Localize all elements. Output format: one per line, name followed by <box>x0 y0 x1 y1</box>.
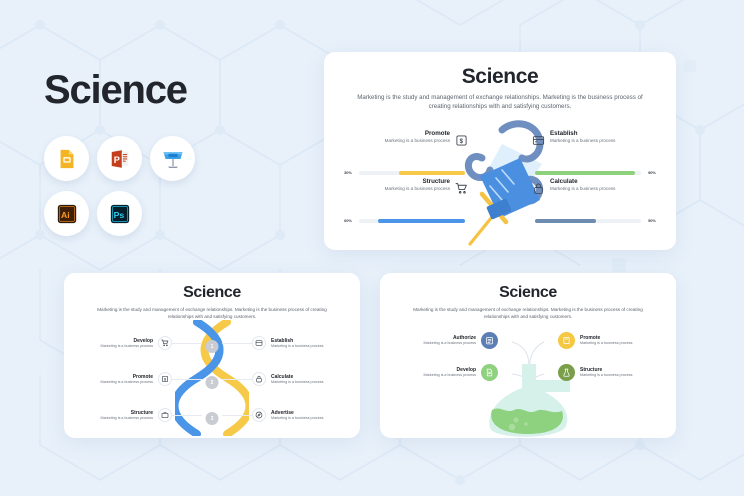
main-item-promote-track[interactable] <box>359 171 465 175</box>
dna-item-advertise[interactable]: Advertise Marketing is a business proces… <box>252 408 348 422</box>
photoshop-icon: Ps <box>109 203 131 225</box>
main-item-promote-head: Promote Marketing is a business process … <box>340 130 468 147</box>
google-slides-icon <box>56 148 78 170</box>
flask-icon <box>558 364 575 381</box>
dna-item-promote-desc: Marketing is a business process <box>101 380 153 386</box>
briefcase-icon <box>158 408 172 422</box>
main-item-promote-name: Promote <box>385 130 450 137</box>
flask-card-body: Authorize Marketing is a business proces… <box>380 320 676 438</box>
main-item-structure-progress[interactable]: 60% <box>340 212 468 230</box>
main-item-establish-text: Establish Marketing is a business proces… <box>550 130 615 145</box>
main-item-promote[interactable]: Promote Marketing is a business process … <box>340 130 468 147</box>
app-icon-google-slides[interactable] <box>44 136 89 181</box>
connector-line <box>222 343 252 344</box>
lock-icon <box>532 182 545 195</box>
compass-icon <box>252 408 266 422</box>
main-item-structure-head: Structure Marketing is a business proces… <box>340 178 468 195</box>
connector-line <box>172 415 202 416</box>
connector-line <box>172 343 202 344</box>
document-icon <box>481 364 498 381</box>
dna-item-structure-text: Structure Marketing is a business proces… <box>101 410 153 422</box>
flask-item-develop-desc: Marketing is a business process <box>424 373 476 379</box>
main-item-structure-desc: Marketing is a business process <box>385 186 450 193</box>
app-icon-illustrator[interactable]: Ai <box>44 191 89 236</box>
main-item-promote-desc: Marketing is a business process <box>385 138 450 145</box>
dna-item-develop-desc: Marketing is a business process <box>101 344 153 350</box>
dollar-icon: $ <box>455 134 468 147</box>
main-card-subtitle: Marketing is the study and management of… <box>350 94 650 112</box>
svg-text:$: $ <box>164 378 166 382</box>
illustrator-icon: Ai <box>56 203 78 225</box>
dna-item-develop[interactable]: Develop Marketing is a business process <box>76 336 172 350</box>
dna-item-establish-desc: Marketing is a business process <box>271 344 323 350</box>
dna-item-calculate-desc: Marketing is a business process <box>271 380 323 386</box>
main-item-calculate[interactable]: Calculate Marketing is a business proces… <box>532 178 660 195</box>
hero-block: Science P <box>44 70 294 236</box>
app-icon-keynote[interactable] <box>150 136 195 181</box>
flask-item-develop[interactable]: Develop Marketing is a business process <box>394 364 498 381</box>
flask-item-promote-text: Promote Marketing is a business process <box>580 335 632 347</box>
cart-icon <box>158 336 172 350</box>
powerpoint-icon: P <box>109 148 131 170</box>
wallet-icon <box>532 134 545 147</box>
dna-item-structure[interactable]: Structure Marketing is a business proces… <box>76 408 172 422</box>
wallet-icon <box>252 336 266 350</box>
flask-item-structure-text: Structure Marketing is a business proces… <box>580 367 632 379</box>
dna-item-develop-text: Develop Marketing is a business process <box>101 338 153 350</box>
app-icon-powerpoint[interactable]: P <box>97 136 142 181</box>
main-item-calculate-name: Calculate <box>550 178 615 185</box>
dna-infographic-card: Science Marketing is the study and manag… <box>64 273 360 438</box>
main-item-calculate-progress[interactable]: 50% <box>532 212 660 230</box>
svg-text:Ai: Ai <box>60 209 69 219</box>
main-item-calculate-desc: Marketing is a business process <box>550 186 615 193</box>
flask-item-authorize[interactable]: Authorize Marketing is a business proces… <box>394 332 498 349</box>
flask-item-promote[interactable]: Promote Marketing is a business process <box>558 332 662 349</box>
dna-item-advertise-text: Advertise Marketing is a business proces… <box>271 410 323 422</box>
flask-item-promote-desc: Marketing is a business process <box>580 341 632 347</box>
dna-item-calculate-text: Calculate Marketing is a business proces… <box>271 374 323 386</box>
dna-item-promote[interactable]: Promote Marketing is a business process … <box>76 372 172 386</box>
main-infographic-card: Science Marketing is the study and manag… <box>324 52 676 250</box>
app-icon-photoshop[interactable]: Ps <box>97 191 142 236</box>
flask-infographic-card: Science Marketing is the study and manag… <box>380 273 676 438</box>
dna-item-establish-text: Establish Marketing is a business proces… <box>271 338 323 350</box>
dna-card-title: Science <box>64 284 360 302</box>
cart-icon <box>455 182 468 195</box>
main-item-structure-name: Structure <box>385 178 450 185</box>
dna-item-promote-text: Promote Marketing is a business process <box>101 374 153 386</box>
flask-card-subtitle: Marketing is the study and management of… <box>400 307 656 320</box>
main-item-structure-track[interactable] <box>359 219 465 223</box>
flask-item-structure-desc: Marketing is a business process <box>580 373 632 379</box>
progress-fill <box>535 219 596 223</box>
main-card-title: Science <box>324 65 676 89</box>
dna-card-subtitle: Marketing is the study and management of… <box>84 307 340 320</box>
main-item-calculate-percent: 50% <box>644 212 660 230</box>
connector-line <box>172 379 202 380</box>
keynote-icon <box>161 147 185 171</box>
app-icon-list: P Ai Ps <box>44 136 206 236</box>
main-item-establish-desc: Marketing is a business process <box>550 138 615 145</box>
dollar-icon: $ <box>158 372 172 386</box>
svg-text:Ps: Ps <box>113 209 124 219</box>
main-item-structure[interactable]: Structure Marketing is a business proces… <box>340 178 468 195</box>
progress-fill <box>535 171 635 175</box>
page-title: Science <box>44 70 294 110</box>
flask-card-title: Science <box>380 284 676 302</box>
flask-item-develop-text: Develop Marketing is a business process <box>424 367 476 379</box>
main-item-calculate-text: Calculate Marketing is a business proces… <box>550 178 615 193</box>
main-item-establish-head: Establish Marketing is a business proces… <box>532 130 660 147</box>
svg-text:$: $ <box>460 139 464 145</box>
main-item-establish[interactable]: Establish Marketing is a business proces… <box>532 130 660 147</box>
flask-item-authorize-desc: Marketing is a business process <box>424 341 476 347</box>
dna-card-body: 1 2 3 Develop Marketing is a business pr… <box>64 320 360 438</box>
main-card-body: Promote Marketing is a business process … <box>324 112 676 250</box>
main-item-structure-percent: 60% <box>340 212 356 230</box>
dna-node-2: 2 <box>206 376 219 389</box>
main-item-establish-name: Establish <box>550 130 615 137</box>
flask-item-structure[interactable]: Structure Marketing is a business proces… <box>558 364 662 381</box>
main-item-promote-text: Promote Marketing is a business process <box>385 130 450 145</box>
svg-text:P: P <box>113 155 119 165</box>
dna-item-establish[interactable]: Establish Marketing is a business proces… <box>252 336 348 350</box>
connector-line <box>222 415 252 416</box>
clipboard-icon <box>481 332 498 349</box>
main-item-establish-track[interactable] <box>535 171 641 175</box>
dna-item-advertise-desc: Marketing is a business process <box>271 416 323 422</box>
progress-fill <box>399 171 465 175</box>
dna-item-calculate[interactable]: Calculate Marketing is a business proces… <box>252 372 348 386</box>
lock-icon <box>252 372 266 386</box>
main-item-calculate-track[interactable] <box>535 219 641 223</box>
dna-item-structure-desc: Marketing is a business process <box>101 416 153 422</box>
dna-node-3: 3 <box>206 412 219 425</box>
book-icon <box>558 332 575 349</box>
dna-node-1: 1 <box>206 340 219 353</box>
progress-fill <box>378 219 465 223</box>
main-item-calculate-head: Calculate Marketing is a business proces… <box>532 178 660 195</box>
flask-item-authorize-text: Authorize Marketing is a business proces… <box>424 335 476 347</box>
connector-line <box>222 379 252 380</box>
main-item-structure-text: Structure Marketing is a business proces… <box>385 178 450 193</box>
